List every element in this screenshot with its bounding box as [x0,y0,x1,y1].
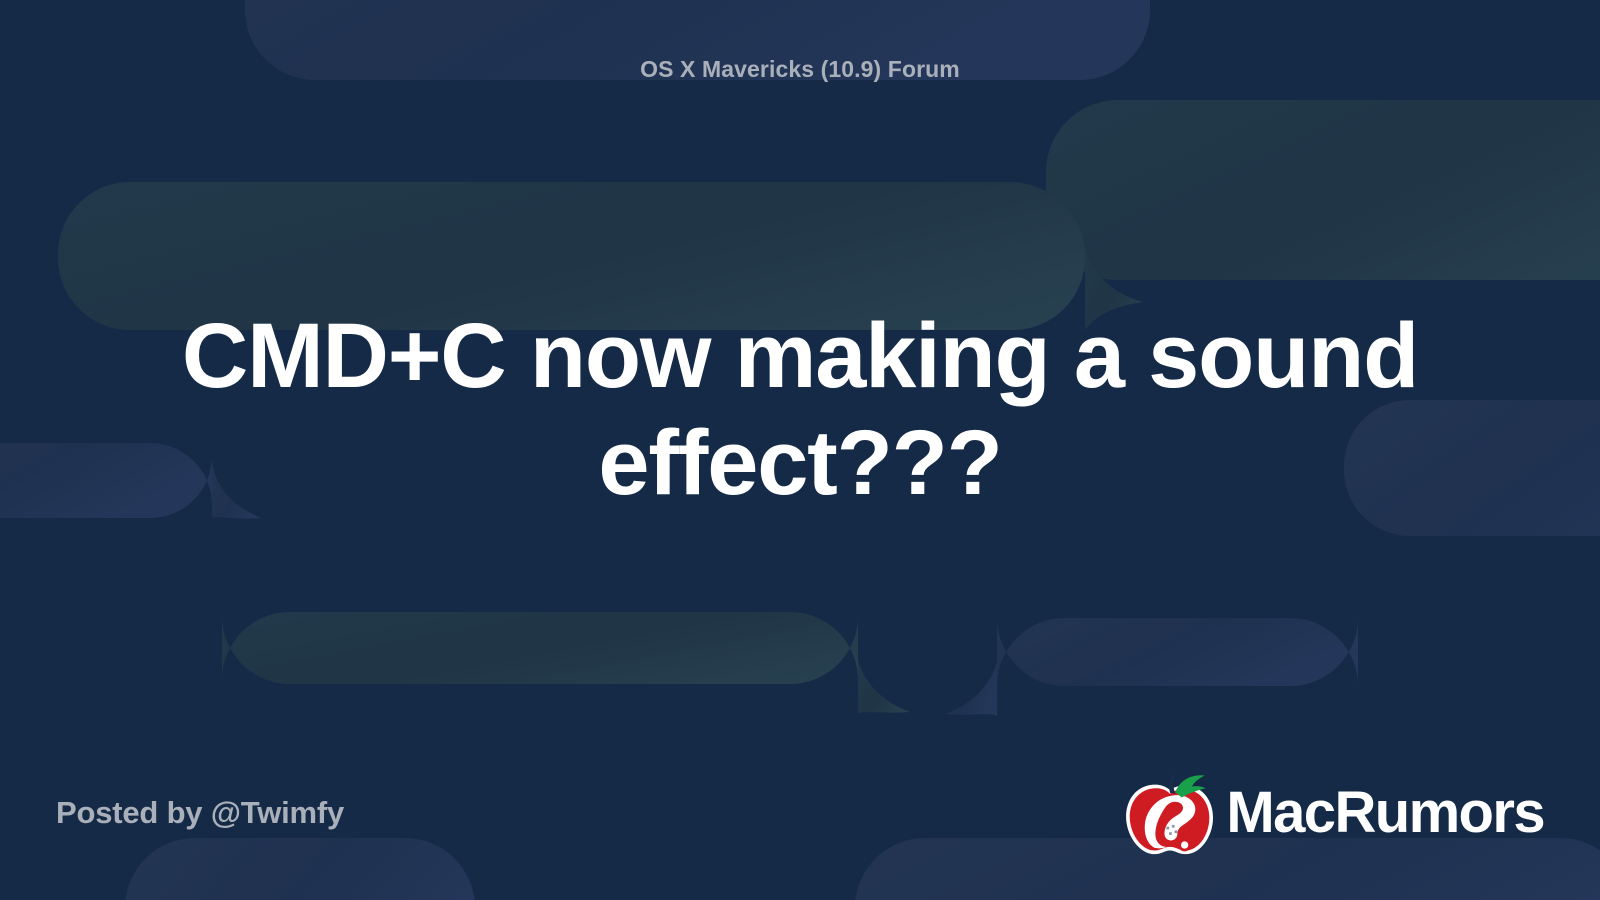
post-title-wrap: CMD+C now making a sound effect??? [56,83,1544,770]
brand-lockup[interactable]: MacRumors [1124,770,1544,856]
forum-share-card: OS X Mavericks (10.9) Forum CMD+C now ma… [0,0,1600,900]
page-title: CMD+C now making a sound effect??? [180,303,1420,516]
posted-by-label: Posted by @Twimfy [56,795,344,831]
card-content: OS X Mavericks (10.9) Forum CMD+C now ma… [0,0,1600,900]
macrumors-apple-logo-icon [1124,770,1216,856]
card-footer: Posted by @Twimfy [56,770,1544,856]
forum-name[interactable]: OS X Mavericks (10.9) Forum [640,56,960,83]
forum-row: OS X Mavericks (10.9) Forum [56,56,1544,83]
brand-name: MacRumors [1226,784,1544,842]
